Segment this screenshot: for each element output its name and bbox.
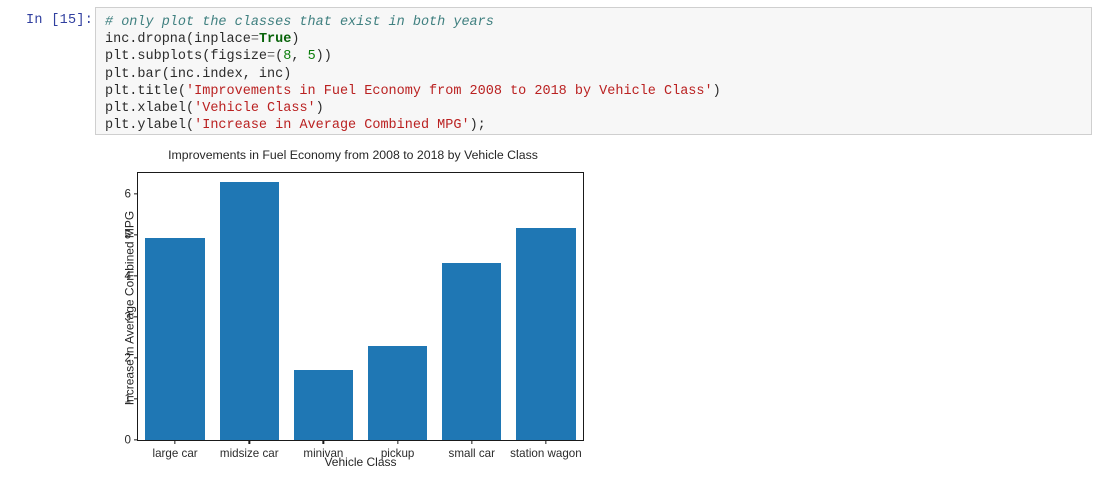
token-plain: ) bbox=[713, 84, 721, 99]
code-line-7: plt.ylabel('Increase in Average Combined… bbox=[105, 117, 721, 134]
plot-axes-area: large carmidsize carminivanpickupsmall c… bbox=[137, 172, 584, 441]
code-source-text: # only plot the classes that exist in bo… bbox=[105, 14, 721, 134]
code-line-5: plt.title('Improvements in Fuel Economy … bbox=[105, 83, 721, 100]
token-plain: , bbox=[291, 49, 307, 64]
bar-station-wagon bbox=[516, 228, 575, 440]
token-plain: ) bbox=[291, 32, 299, 47]
token-plain: plt.title( bbox=[105, 84, 186, 99]
x-tick-mark bbox=[471, 440, 472, 444]
x-axis-label: Vehicle Class bbox=[137, 455, 584, 469]
bar-large-car bbox=[145, 238, 204, 440]
matplotlib-figure-output: Improvements in Fuel Economy from 2008 t… bbox=[98, 146, 608, 481]
token-plain: )) bbox=[316, 49, 332, 64]
execution-count-prompt: In [15]: bbox=[26, 13, 93, 28]
bar-minivan bbox=[294, 370, 353, 440]
token-plain: ); bbox=[470, 118, 486, 133]
token-string: 'Vehicle Class' bbox=[194, 101, 316, 116]
x-tick-mark bbox=[323, 440, 324, 444]
token-plain: plt.subplots(figsize bbox=[105, 49, 267, 64]
token-op: = bbox=[267, 49, 275, 64]
token-kw: True bbox=[259, 32, 291, 47]
code-line-4: plt.bar(inc.index, inc) bbox=[105, 66, 721, 83]
code-line-2: inc.dropna(inplace=True) bbox=[105, 31, 721, 48]
y-axis-label: Increase in Average Combined MPG bbox=[123, 174, 137, 443]
x-tick-mark bbox=[174, 440, 175, 444]
code-line-1: # only plot the classes that exist in bo… bbox=[105, 14, 721, 31]
token-plain: inc.dropna(inplace bbox=[105, 32, 251, 47]
bar-small-car bbox=[442, 263, 501, 440]
token-plain: plt.xlabel( bbox=[105, 101, 194, 116]
code-input-editor[interactable]: # only plot the classes that exist in bo… bbox=[95, 7, 1092, 135]
token-op: = bbox=[251, 32, 259, 47]
bar-midsize-car bbox=[220, 182, 279, 440]
token-comment: # only plot the classes that exist in bo… bbox=[105, 15, 494, 30]
x-tick-mark bbox=[397, 440, 398, 444]
token-plain: ) bbox=[316, 101, 324, 116]
token-string: 'Increase in Average Combined MPG' bbox=[194, 118, 469, 133]
bar-pickup bbox=[368, 346, 427, 440]
notebook-input-cell: In [15]: # only plot the classes that ex… bbox=[0, 0, 1102, 145]
code-line-6: plt.xlabel('Vehicle Class') bbox=[105, 100, 721, 117]
token-plain: plt.bar(inc.index, inc) bbox=[105, 67, 291, 82]
bars-layer bbox=[138, 173, 583, 440]
chart-title: Improvements in Fuel Economy from 2008 t… bbox=[98, 148, 608, 162]
token-plain: plt.ylabel( bbox=[105, 118, 194, 133]
x-tick-mark bbox=[545, 440, 546, 444]
x-tick-mark bbox=[249, 440, 250, 444]
code-line-3: plt.subplots(figsize=(8, 5)) bbox=[105, 48, 721, 65]
token-string: 'Improvements in Fuel Economy from 2008 … bbox=[186, 84, 713, 99]
token-number: 5 bbox=[308, 49, 316, 64]
